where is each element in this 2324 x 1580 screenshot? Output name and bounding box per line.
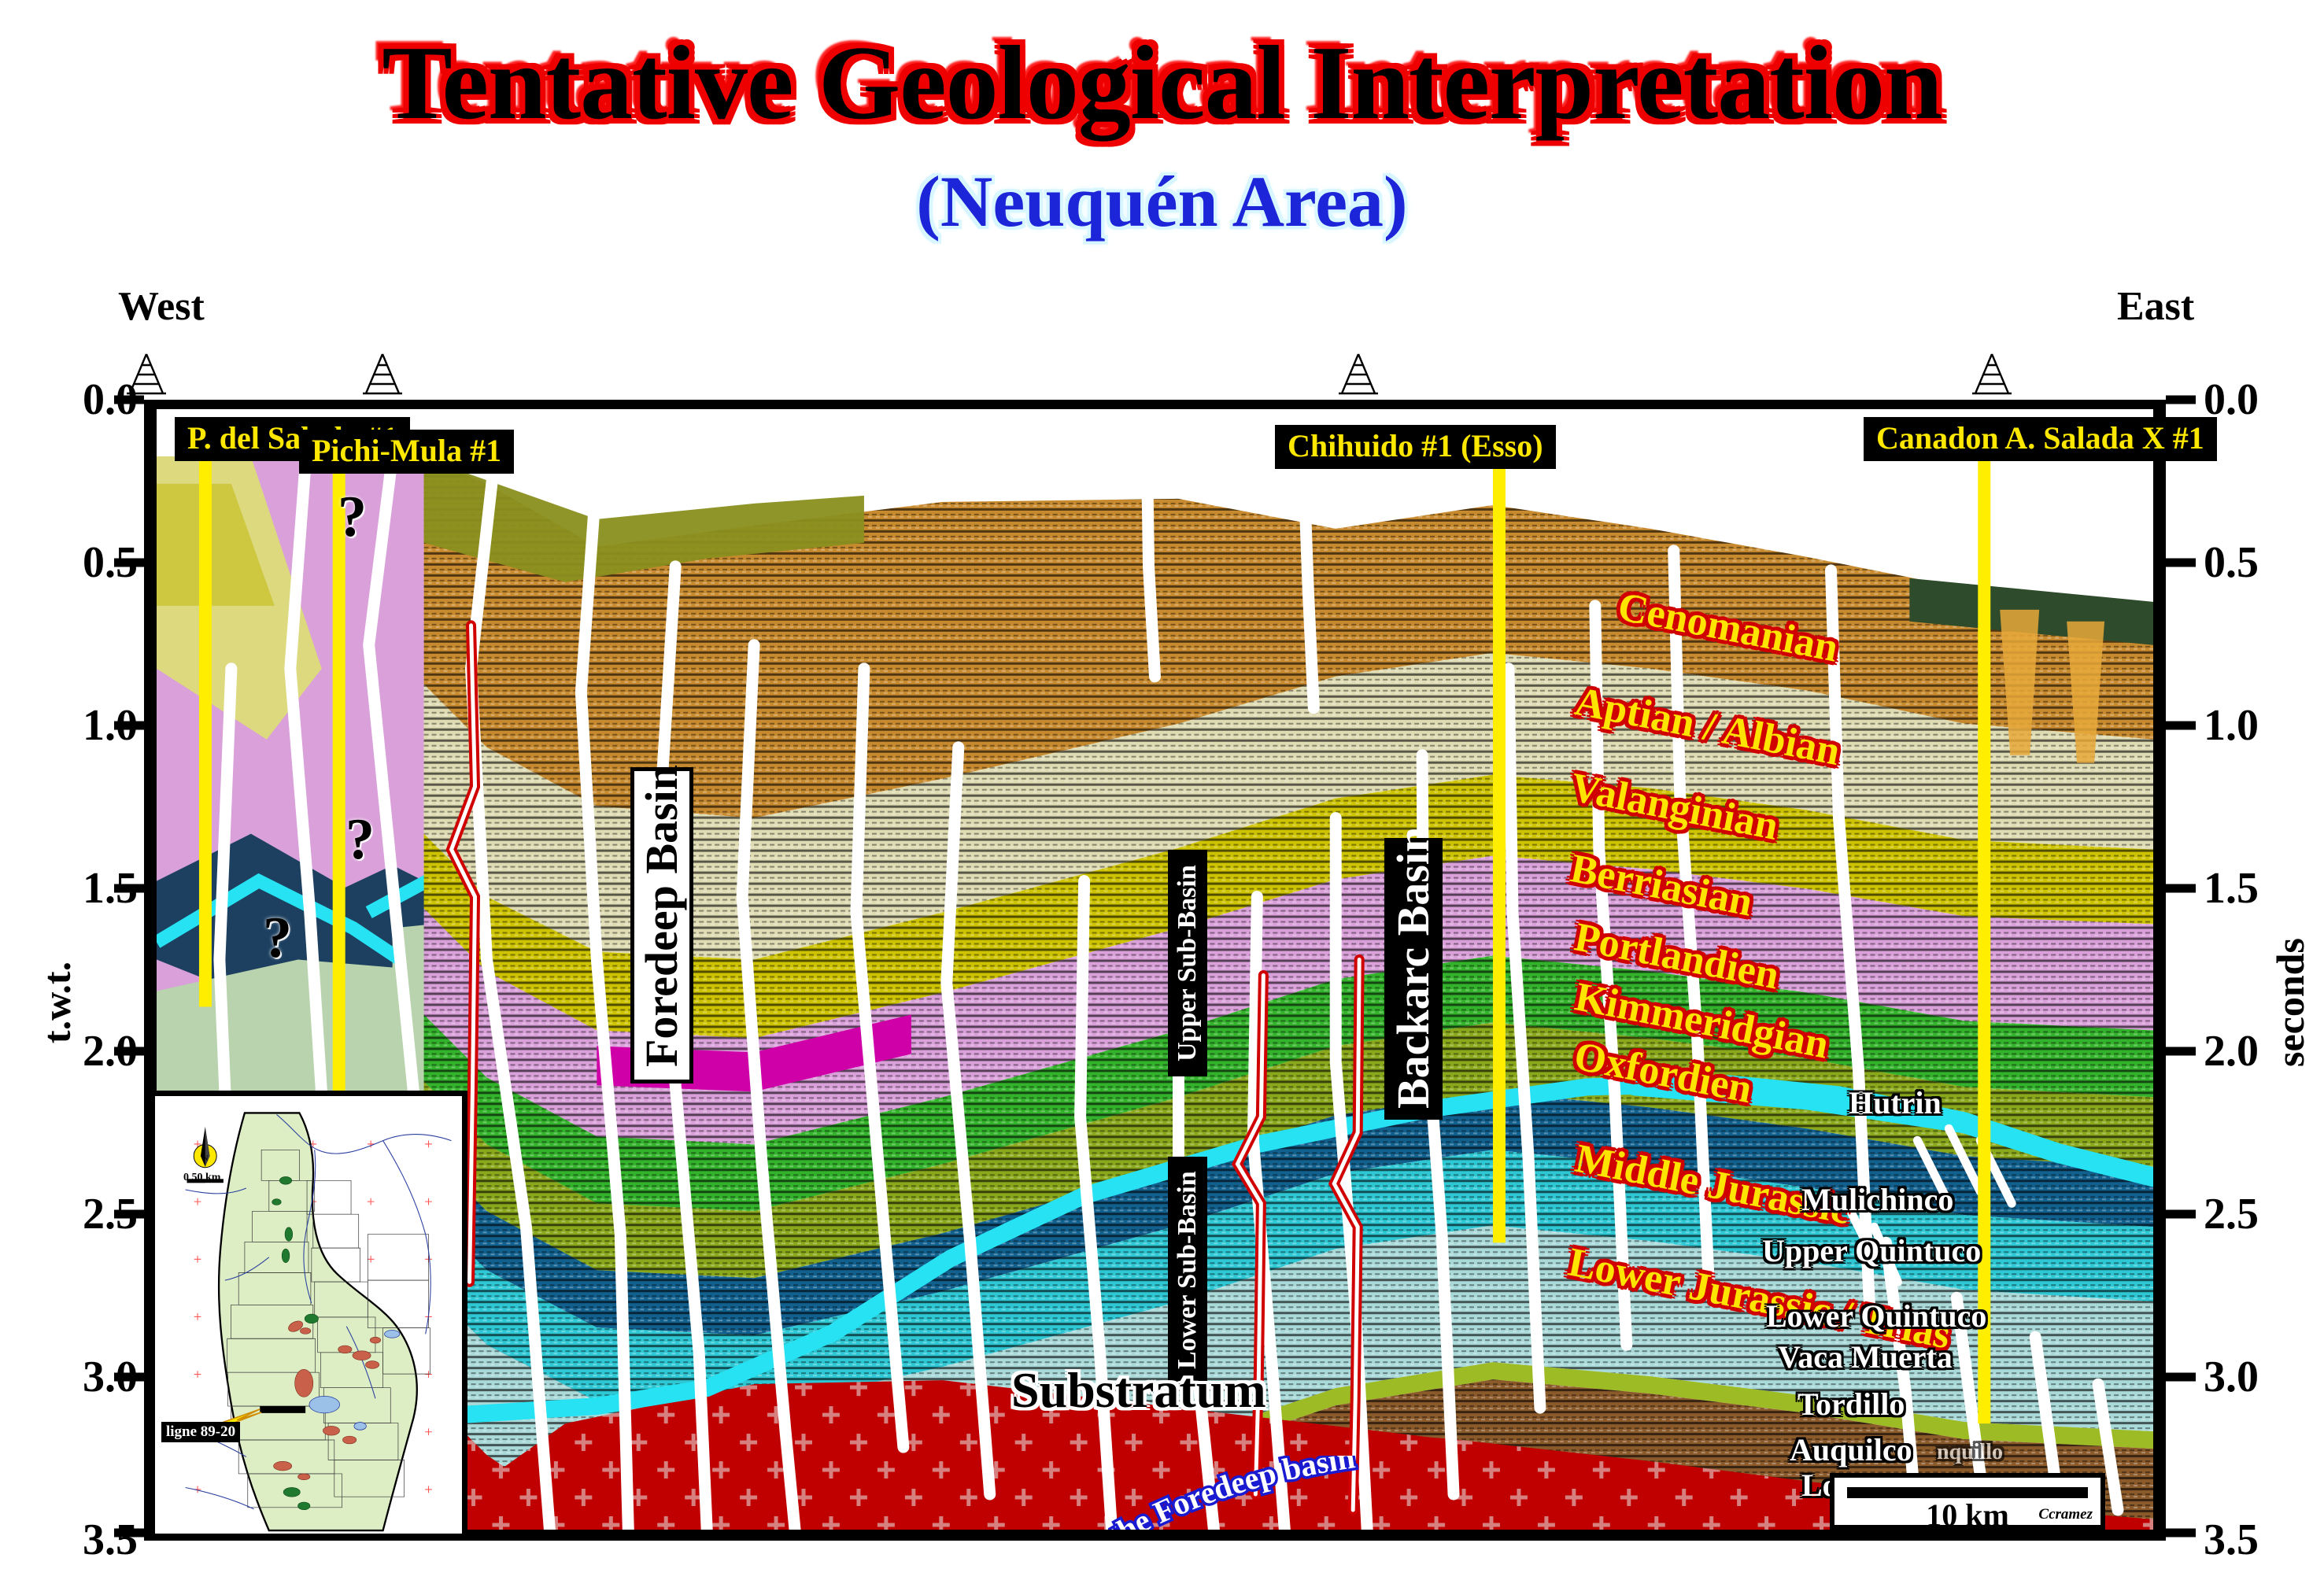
callout-foredeep-basin: Foredeep Basin xyxy=(630,767,693,1083)
author-signature: Ccramez xyxy=(2038,1506,2093,1523)
axis-tick-mark xyxy=(2166,559,2196,567)
formation-label-auquilco: Auquilco xyxy=(1790,1434,1912,1466)
uncertainty-marker: ? xyxy=(338,488,367,546)
well-label-canadon-a-salada: Canadon A. Salada X #1 xyxy=(1864,417,2217,461)
axis-tick-label-right-1: 0.5 xyxy=(2204,537,2259,588)
svg-text:N: N xyxy=(202,1154,209,1163)
formation-label-upper-quintuco: Upper Quintuco xyxy=(1762,1235,1981,1267)
scale-bar: 10 km Ccramez xyxy=(1830,1473,2105,1530)
axis-tick-label-left-7: 3.5 xyxy=(83,1515,138,1565)
axis-tick-label-right-7: 3.5 xyxy=(2204,1515,2259,1565)
axis-label-seconds: seconds xyxy=(2267,916,2313,1089)
substratum-label: Substratum xyxy=(1011,1361,1266,1419)
axis-tick-label-right-4: 2.0 xyxy=(2204,1026,2259,1076)
orientation-label-west: West xyxy=(118,283,205,330)
formation-label-lower-quintuco: Lower Quintuco xyxy=(1766,1301,1986,1332)
axis-tick-label-right-5: 2.5 xyxy=(2204,1189,2259,1239)
well-label-chihuido: Chihuido #1 (Esso) xyxy=(1275,425,1556,469)
page-title: Tentative Geological Interpretation xyxy=(0,30,2324,135)
unconformity-text: Unconformity of the bottom of the Forede… xyxy=(731,1456,1358,1541)
orientation-label-east: East xyxy=(2117,283,2194,330)
axis-tick-mark xyxy=(2166,1047,2196,1056)
axis-tick-mark xyxy=(2166,1529,2196,1538)
axis-tick-mark xyxy=(114,1529,144,1538)
well-label-pichi-mula: Pichi-Mula #1 xyxy=(299,430,514,474)
axis-tick-mark xyxy=(114,722,144,730)
axis-tick-mark xyxy=(114,1047,144,1056)
uncertainty-marker: ? xyxy=(345,810,375,869)
axis-tick-mark xyxy=(2166,1210,2196,1219)
axis-tick-label-right-2: 1.0 xyxy=(2204,700,2259,751)
axis-tick-mark xyxy=(2166,722,2196,730)
page-subtitle: (Neuquén Area) xyxy=(0,165,2324,238)
axis-tick-mark xyxy=(2166,884,2196,893)
inset-map-graphic: N xyxy=(155,1096,462,1534)
axis-label-twt: t.w.t. xyxy=(34,940,79,1065)
callout-upper-sub-basin: Upper Sub-Basin xyxy=(1168,850,1207,1076)
axis-tick-mark xyxy=(2166,1373,2196,1382)
inset-location-map: N 0 50 km ligne 89-20 xyxy=(150,1091,467,1539)
formation-label-mulichinco: Mulichinco xyxy=(1801,1184,1953,1216)
uncertainty-marker: ? xyxy=(263,909,292,967)
formation-label-hutrin: Hutrin xyxy=(1849,1087,1942,1119)
axis-tick-label-right-6: 3.0 xyxy=(2204,1352,2259,1402)
inset-scale-label: 0 50 km xyxy=(183,1172,220,1184)
axis-tick-label-right-3: 1.5 xyxy=(2204,863,2259,914)
callout-lower-sub-basin: Lower Sub-Basin xyxy=(1168,1157,1207,1383)
drilling-rig-icon xyxy=(358,353,407,398)
axis-tick-mark xyxy=(114,884,144,893)
drilling-rig-icon xyxy=(1334,353,1383,398)
formation-label-vaca-muerta: Vaca Muerta xyxy=(1778,1342,1953,1373)
drilling-rig-icon xyxy=(122,353,171,398)
inset-seismic-line-label: ligne 89-20 xyxy=(161,1422,240,1442)
unconformity-textpath: Unconformity of the bottom of the Forede… xyxy=(731,1456,1358,1541)
callout-backarc-basin: Backarc Basin xyxy=(1384,838,1443,1120)
axis-tick-mark xyxy=(2166,396,2196,404)
drilling-rig-icon xyxy=(1967,353,2016,398)
formation-label-tordillo: Tordillo xyxy=(1797,1389,1905,1420)
axis-tick-mark xyxy=(114,1210,144,1219)
axis-tick-mark xyxy=(114,1373,144,1382)
axis-tick-mark xyxy=(114,559,144,567)
formation-label-nquillo: nquillo xyxy=(1937,1442,2003,1464)
unconformity-annotation: Unconformity of the bottom of the Forede… xyxy=(723,1456,1510,1541)
